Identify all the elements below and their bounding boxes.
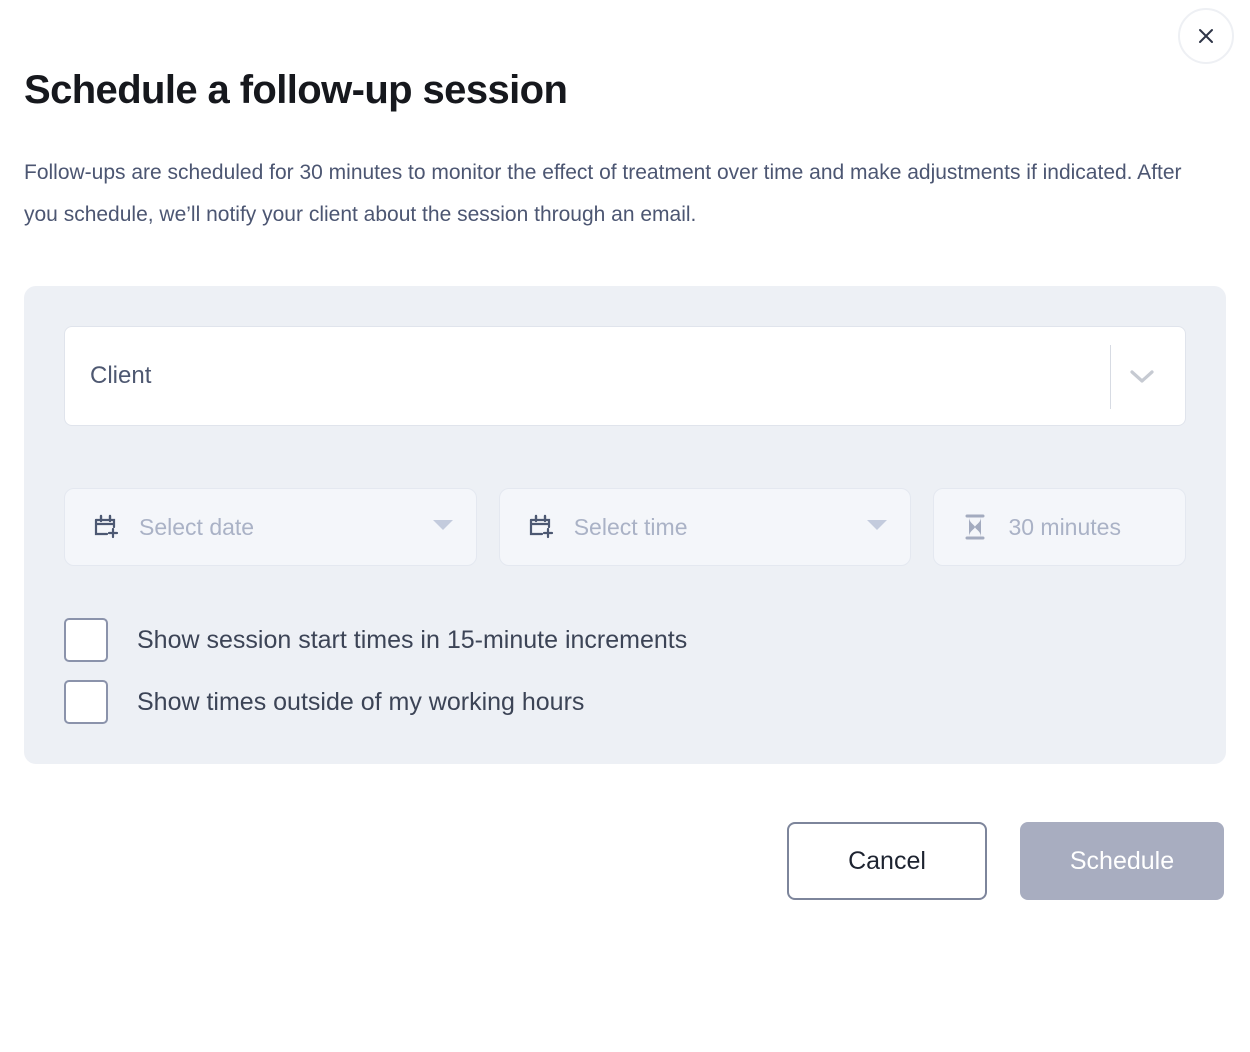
dialog-footer: Cancel Schedule [24, 822, 1226, 900]
schedule-followup-dialog: Schedule a follow-up session Follow-ups … [0, 0, 1250, 1052]
cancel-button[interactable]: Cancel [787, 822, 987, 900]
select-time-field[interactable]: Select time [499, 488, 912, 566]
dialog-description: Follow-ups are scheduled for 30 minutes … [24, 114, 1216, 236]
chevron-down-icon[interactable] [1119, 327, 1165, 425]
client-placeholder: Client [65, 362, 151, 390]
client-select[interactable]: Client [64, 326, 1186, 426]
checkbox-label: Show times outside of my working hours [137, 688, 584, 717]
checkbox-row-15-minute-increments[interactable]: Show session start times in 15-minute in… [64, 618, 1186, 662]
calendar-plus-icon [526, 512, 556, 542]
checkbox-label: Show session start times in 15-minute in… [137, 626, 687, 655]
select-time-placeholder: Select time [574, 514, 688, 541]
caret-down-icon[interactable] [866, 518, 888, 536]
client-divider [1110, 345, 1111, 409]
duration-value: 30 minutes [1008, 514, 1121, 541]
checkbox-15-minute-increments[interactable] [64, 618, 108, 662]
caret-down-icon[interactable] [432, 518, 454, 536]
close-icon [1196, 26, 1216, 46]
close-button[interactable] [1178, 8, 1234, 64]
datetime-row: Select date Select [64, 488, 1186, 566]
page-title: Schedule a follow-up session [24, 0, 1226, 114]
duration-field: 30 minutes [933, 488, 1186, 566]
select-date-field[interactable]: Select date [64, 488, 477, 566]
form-panel: Client Select date [24, 286, 1226, 764]
hourglass-icon [960, 512, 990, 542]
checkbox-row-outside-working-hours[interactable]: Show times outside of my working hours [64, 680, 1186, 724]
checkbox-outside-working-hours[interactable] [64, 680, 108, 724]
calendar-plus-icon [91, 512, 121, 542]
options-list: Show session start times in 15-minute in… [64, 618, 1186, 724]
select-date-placeholder: Select date [139, 514, 254, 541]
schedule-button[interactable]: Schedule [1020, 822, 1224, 900]
